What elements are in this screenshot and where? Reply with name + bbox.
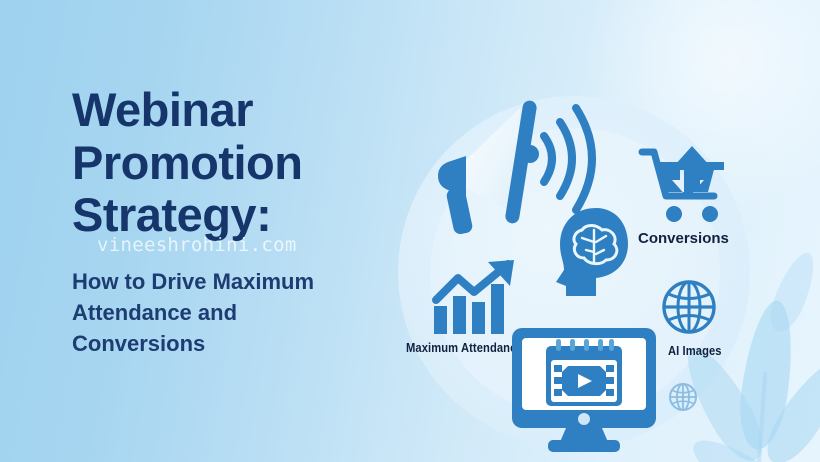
maximum-attendance-label: Maximum Attendance: [406, 340, 523, 355]
page-title: Webinar Promotion Strategy:: [72, 84, 402, 242]
ai-images-label: AI Images: [668, 343, 722, 358]
poster-canvas: Webinar Promotion Strategy: vineeshrohin…: [0, 0, 820, 462]
leaf-shape: [756, 351, 820, 462]
shopping-cart-up-arrow-icon: [638, 142, 732, 233]
conversions-label: Conversions: [638, 230, 729, 247]
leaf-shape: [763, 247, 820, 336]
monitor-video-calendar-icon: [508, 326, 660, 461]
globe-icon: [660, 278, 718, 341]
head-brain-icon: [552, 206, 632, 307]
small-globe-icon: [668, 382, 698, 417]
leaf-shape: [734, 298, 800, 453]
page-subtitle: How to Drive Maximum Attendance and Conv…: [72, 266, 402, 360]
leaf-shape: [684, 428, 786, 462]
site-watermark: vineeshrohini.com: [97, 234, 297, 256]
headline-block: Webinar Promotion Strategy: vineeshrohin…: [72, 84, 402, 360]
leaf-stem: [757, 372, 768, 462]
